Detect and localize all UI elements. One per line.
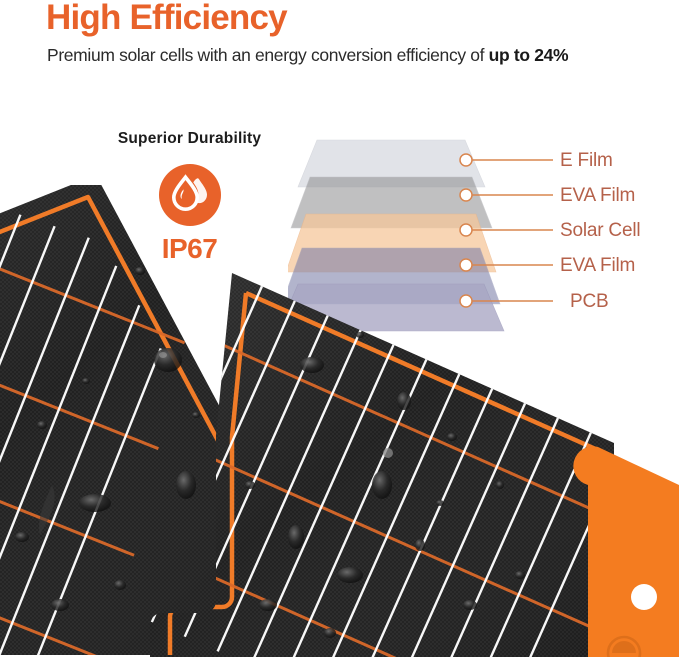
page-subtitle: Premium solar cells with an energy conve… [47, 45, 568, 66]
panel-handle-tab [573, 446, 679, 657]
handle-hole [631, 584, 657, 610]
layer-label-e-film: E Film [560, 150, 613, 172]
durability-heading: Superior Durability [92, 130, 287, 148]
page-title: High Efficiency [46, 0, 287, 38]
solar-panel-product-image [0, 185, 679, 657]
subtitle-text: Premium solar cells with an energy conve… [47, 45, 489, 65]
header-section: High Efficiency Premium solar cells with… [0, 0, 679, 90]
subtitle-highlight: up to 24% [489, 45, 569, 65]
